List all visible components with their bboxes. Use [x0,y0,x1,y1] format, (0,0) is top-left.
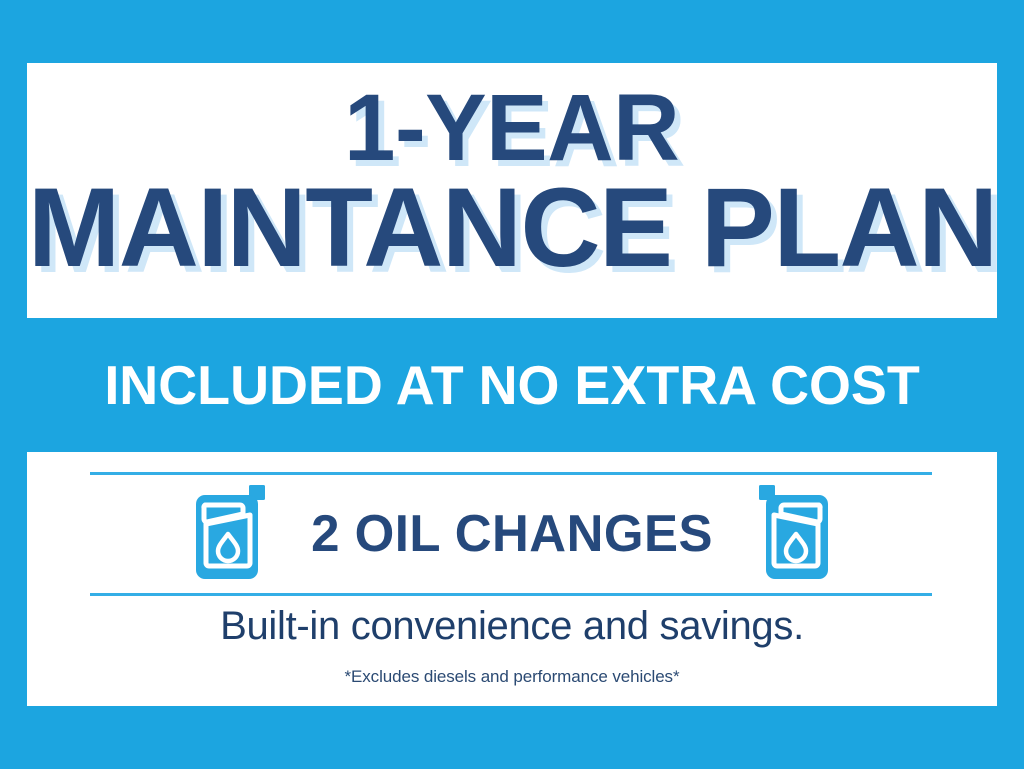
maintenance-plan-poster: 1-YEAR MAINTANCE PLAN INCLUDED AT NO EXT… [0,0,1024,769]
headline-line-2: MAINTANCE PLAN [28,176,997,279]
oil-jug-icon [753,485,831,584]
headline-panel: 1-YEAR MAINTANCE PLAN [27,63,997,318]
subtitle-text: INCLUDED AT NO EXTRA COST [104,353,919,417]
detail-panel: 2 OIL CHANGES Built-in convenience and s… [27,452,997,706]
tagline-text: Built-in convenience and savings. [27,604,997,649]
offer-row: 2 OIL CHANGES [27,475,997,593]
subtitle-band: INCLUDED AT NO EXTRA COST [0,318,1024,452]
oil-jug-icon [193,485,271,584]
offer-label: 2 OIL CHANGES [311,504,713,564]
disclaimer-text: *Excludes diesels and performance vehicl… [27,667,997,687]
divider-rule-bottom [90,593,932,596]
headline-line-1: 1-YEAR [344,85,679,172]
